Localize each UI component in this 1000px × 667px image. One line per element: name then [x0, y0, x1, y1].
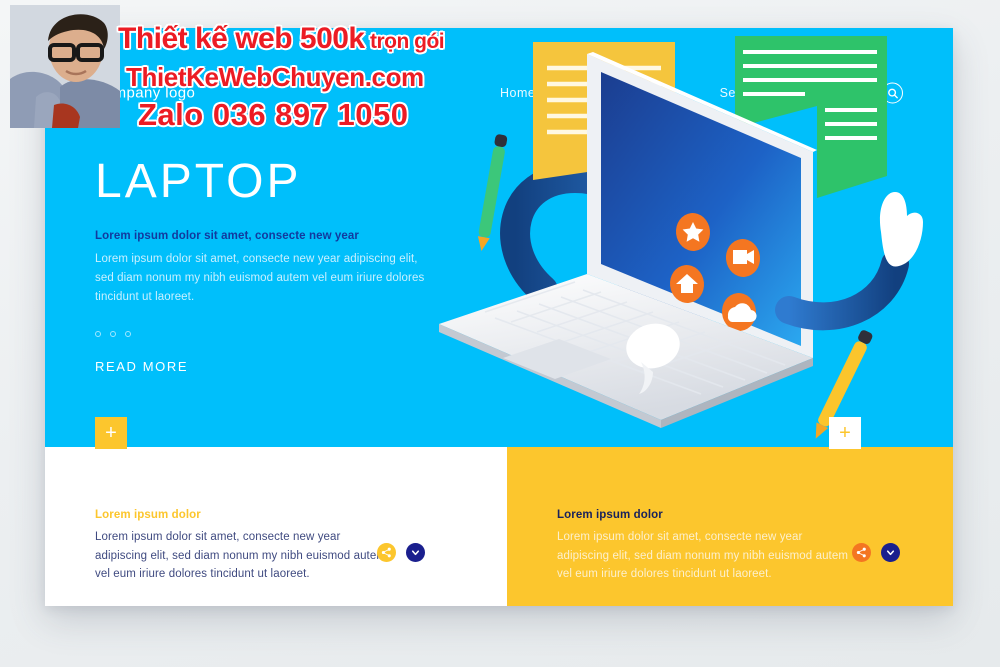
card-left-title: Lorem ipsum dolor [95, 509, 507, 521]
add-button-left[interactable]: + [95, 417, 127, 449]
card-right-title: Lorem ipsum dolor [557, 509, 953, 521]
hero-body: Lorem ipsum dolor sit amet, consecte new… [95, 250, 425, 307]
hero-subtitle: Lorem ipsum dolor sit amet, consecte new… [95, 230, 425, 242]
page-title: LAPTOP [95, 158, 425, 206]
hero-copy: LAPTOP Lorem ipsum dolor sit amet, conse… [95, 158, 425, 376]
carousel-dot-1[interactable] [95, 331, 101, 337]
site-logo[interactable]: company logo [97, 85, 195, 102]
share-icon[interactable] [852, 543, 871, 562]
card-right: + Lorem ipsum dolor Lorem ipsum dolor si… [507, 447, 953, 606]
card-right-body: Lorem ipsum dolor sit amet, consecte new… [557, 528, 857, 584]
carousel-dot-2[interactable] [110, 331, 116, 337]
isometric-laptop-illustration [425, 28, 953, 447]
right-glove [880, 192, 923, 267]
hero-section: company logo Home Adventures Service Con… [45, 28, 953, 447]
share-icon[interactable] [377, 543, 396, 562]
carousel-dot-3[interactable] [125, 331, 131, 337]
card-left-body: Lorem ipsum dolor sit amet, consecte new… [95, 528, 395, 584]
card-right-actions [852, 543, 900, 562]
read-more-link[interactable]: READ MORE [95, 359, 188, 374]
carousel-dots [95, 331, 425, 337]
card-left: + Lorem ipsum dolor Lorem ipsum dolor si… [45, 447, 507, 606]
add-button-right[interactable]: + [829, 417, 861, 449]
feature-cards: + Lorem ipsum dolor Lorem ipsum dolor si… [45, 447, 953, 606]
chevron-down-icon[interactable] [406, 543, 425, 562]
website-mockup: company logo Home Adventures Service Con… [45, 28, 953, 606]
card-left-actions [377, 543, 425, 562]
chevron-down-icon[interactable] [881, 543, 900, 562]
